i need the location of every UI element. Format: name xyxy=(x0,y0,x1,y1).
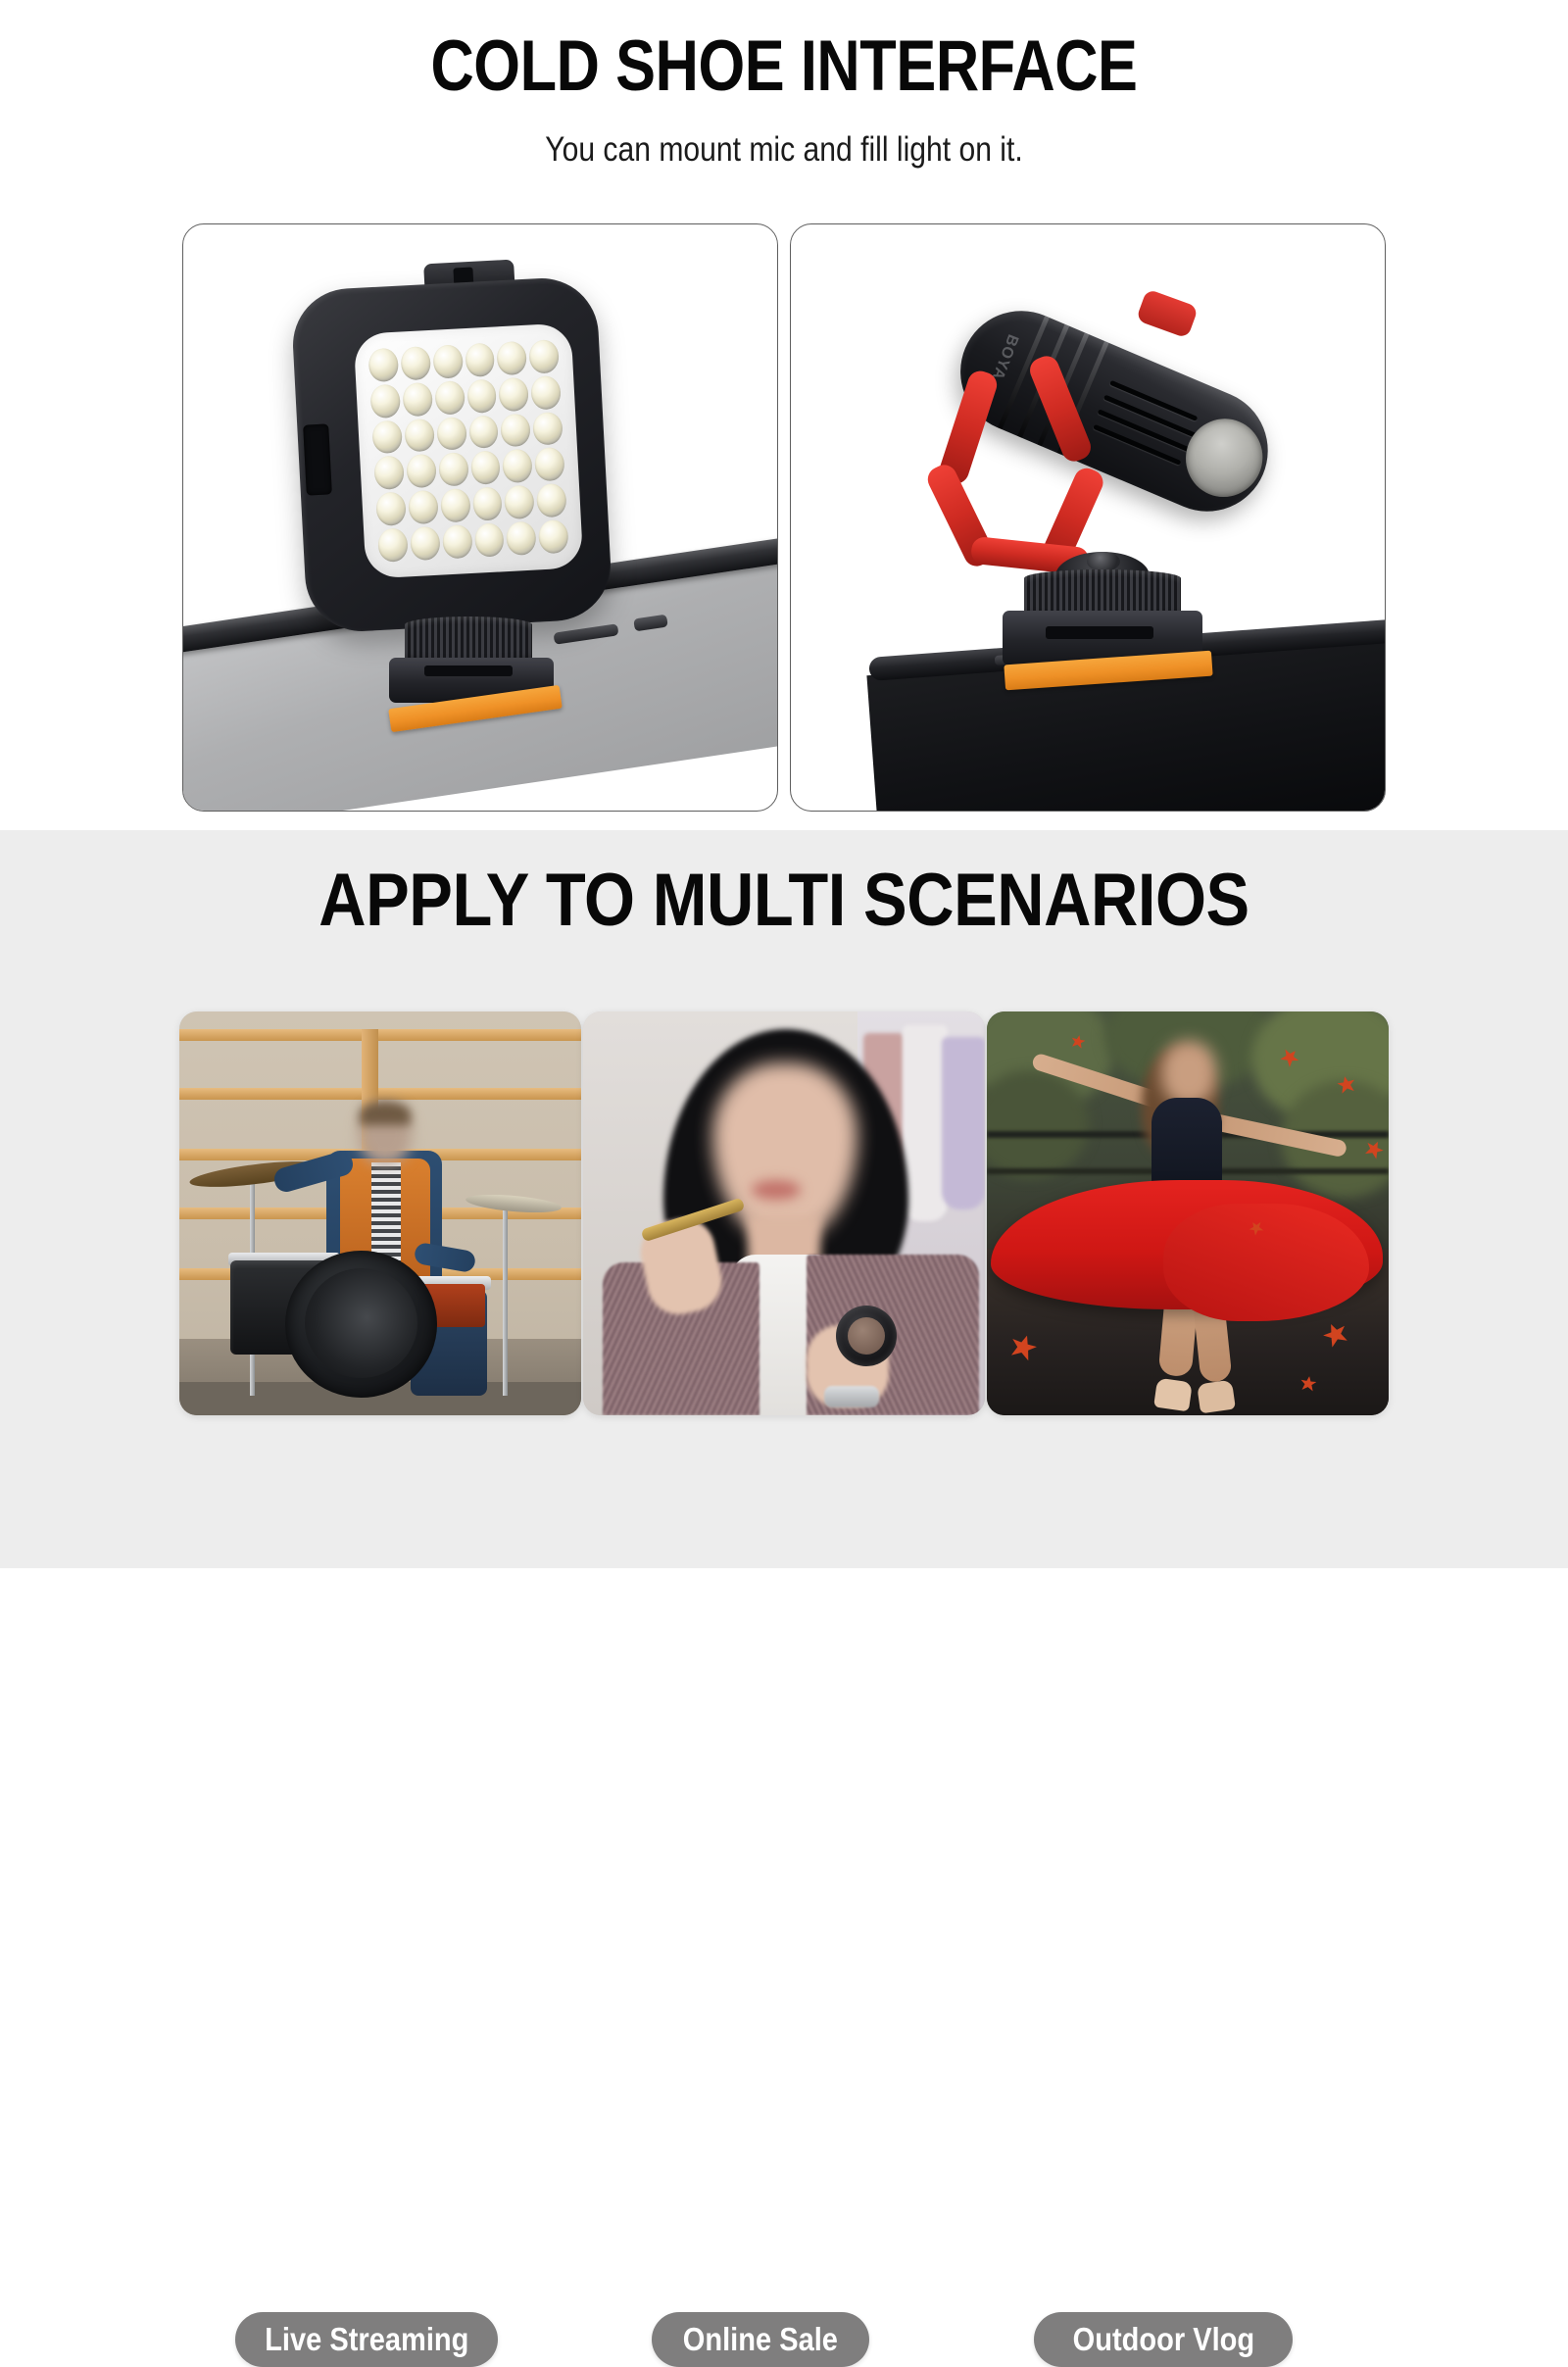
led-dot xyxy=(466,378,498,413)
led-dot xyxy=(538,519,569,554)
led-dot xyxy=(532,412,563,446)
led-dot xyxy=(499,377,530,412)
led-dot xyxy=(504,485,535,519)
led-dot xyxy=(377,528,409,563)
led-dot xyxy=(373,456,405,490)
product-panel-microphone: BOYA xyxy=(790,223,1386,812)
led-dot xyxy=(472,487,504,521)
led-dot xyxy=(536,483,567,518)
photo-drummer xyxy=(179,1011,581,1415)
led-diffuser-panel xyxy=(354,322,584,578)
mic-red-tab xyxy=(1136,288,1199,338)
led-dot xyxy=(534,447,565,481)
led-dot xyxy=(410,526,441,561)
caption-label: Online Sale xyxy=(683,2321,838,2358)
led-dot xyxy=(500,413,531,447)
cold-shoe-section: COLD SHOE INTERFACE You can mount mic an… xyxy=(0,0,1568,830)
led-dot xyxy=(367,348,399,382)
led-dot xyxy=(528,339,560,373)
led-dot xyxy=(468,415,500,449)
mic-capsule-grille xyxy=(1174,407,1275,509)
scenario-card-live-streaming xyxy=(179,1011,581,1415)
scenarios-section: APPLY TO MULTI SCENARIOS xyxy=(0,830,1568,1568)
led-dot xyxy=(465,343,496,377)
led-dot xyxy=(438,453,469,487)
led-dot xyxy=(402,382,433,417)
page-title: COLD SHOE INTERFACE xyxy=(125,25,1443,107)
scenario-card-online-sale xyxy=(583,1011,985,1415)
photo-ballet-dancer xyxy=(987,1011,1389,1415)
led-dot xyxy=(473,522,505,557)
scenarios-title: APPLY TO MULTI SCENARIOS xyxy=(94,858,1474,943)
product-panel-led-light xyxy=(182,223,778,812)
led-dot xyxy=(404,419,435,453)
led-dot xyxy=(530,375,562,410)
caption-pill-outdoor-vlog: Outdoor Vlog xyxy=(1034,2312,1293,2367)
shock-mount xyxy=(942,360,1187,585)
caption-label: Live Streaming xyxy=(265,2321,468,2358)
caption-pill-live-streaming: Live Streaming xyxy=(235,2312,498,2367)
led-dot xyxy=(442,524,473,559)
led-dot xyxy=(432,344,464,378)
led-fill-light-illustration xyxy=(299,262,622,673)
led-dot xyxy=(436,417,467,451)
led-dot xyxy=(506,521,537,556)
led-dot xyxy=(375,492,407,526)
led-dot xyxy=(440,488,471,522)
caption-label: Outdoor Vlog xyxy=(1072,2321,1254,2358)
caption-pill-online-sale: Online Sale xyxy=(652,2312,869,2367)
led-dot xyxy=(408,490,439,524)
led-dot xyxy=(497,341,528,375)
led-dot xyxy=(371,419,403,454)
led-dot xyxy=(502,449,533,483)
page-subtitle: You can mount mic and fill light on it. xyxy=(110,130,1458,170)
led-dot xyxy=(369,383,401,418)
led-dot xyxy=(434,380,465,415)
led-dot xyxy=(470,451,502,485)
led-dot xyxy=(406,454,437,488)
mount-screw xyxy=(1087,552,1120,571)
led-dot xyxy=(400,346,431,380)
scenario-card-outdoor-vlog xyxy=(987,1011,1389,1415)
shotgun-microphone-illustration: BOYA xyxy=(908,258,1320,689)
photo-woman-makeup xyxy=(583,1011,985,1415)
